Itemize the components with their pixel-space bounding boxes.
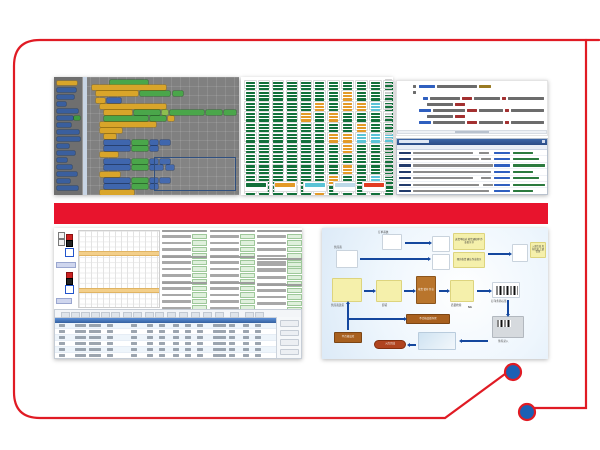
flow-arrow-pc-to-entry <box>405 242 429 244</box>
status-card[interactable] <box>272 164 285 173</box>
form-field-value[interactable] <box>287 301 302 306</box>
status-card[interactable] <box>300 80 313 89</box>
form-field-label <box>162 274 191 276</box>
grid-side-item <box>385 167 392 169</box>
grid-side-item <box>385 108 392 110</box>
flow-arrow-rejectarea-to-left <box>348 318 404 320</box>
form-row <box>210 266 255 271</box>
flow-arrow-reject-to-truck <box>347 304 349 330</box>
form-group-title <box>210 230 255 232</box>
side-button <box>280 349 299 356</box>
form-field-value[interactable] <box>287 247 302 252</box>
code-editor-area[interactable] <box>396 80 548 136</box>
grid-side-item <box>385 100 392 102</box>
status-card[interactable] <box>286 153 299 162</box>
status-card[interactable] <box>244 80 257 89</box>
status-card[interactable] <box>286 111 299 120</box>
status-card[interactable] <box>272 111 285 120</box>
flow-node-carton[interactable]: 收货 暂存 作业 <box>416 276 436 304</box>
form-field-label <box>210 235 239 237</box>
grid-side-item <box>385 150 392 152</box>
blocks-editor-screenshot[interactable] <box>54 77 239 195</box>
form-row <box>210 292 255 297</box>
form-row <box>257 275 302 280</box>
form-field-value[interactable] <box>192 286 207 291</box>
form-field-label <box>162 248 191 250</box>
status-card[interactable] <box>369 111 382 120</box>
red-divider-bar <box>54 203 548 224</box>
form-field-label <box>257 255 286 257</box>
form-column-b[interactable] <box>210 230 255 306</box>
grid-side-item <box>385 159 392 161</box>
spreadsheet-form-screenshot[interactable] <box>54 228 302 359</box>
flow-node-inspection[interactable] <box>450 280 474 302</box>
grid-side-item <box>385 175 392 177</box>
scan-barcode-icon <box>497 320 511 327</box>
status-card[interactable] <box>258 153 271 162</box>
grid-side-item <box>385 154 392 156</box>
flow-label-label-print: 打印条码标签 <box>491 299 507 303</box>
status-card[interactable] <box>313 90 326 99</box>
status-card[interactable] <box>286 122 299 131</box>
data-grid[interactable] <box>54 309 302 359</box>
status-card[interactable] <box>300 143 313 152</box>
status-card[interactable] <box>341 132 354 141</box>
status-card[interactable] <box>355 111 368 120</box>
grid-side-item <box>385 96 392 98</box>
table-row[interactable] <box>55 353 301 359</box>
form-field-label <box>257 235 286 237</box>
legend-swatch-unavailable <box>362 181 386 192</box>
accent-dot-lower <box>519 404 535 420</box>
form-field-label <box>162 268 191 270</box>
status-card[interactable] <box>258 143 271 152</box>
status-card[interactable] <box>369 101 382 110</box>
form-field-label <box>162 235 191 237</box>
status-card[interactable] <box>355 122 368 131</box>
form-field-value[interactable] <box>240 240 255 245</box>
grid-side-item <box>385 117 392 119</box>
status-card[interactable] <box>272 132 285 141</box>
form-group-title <box>162 282 207 284</box>
form-field-label <box>257 289 286 291</box>
side-button <box>280 339 299 346</box>
flow-label-forklift: 卸货 <box>382 303 387 307</box>
status-card[interactable] <box>355 164 368 173</box>
status-card[interactable] <box>355 153 368 162</box>
decorative-frame <box>0 0 600 450</box>
side-button <box>280 330 299 337</box>
flow-arrow-carton-inspect <box>439 290 447 292</box>
accent-dot-upper <box>505 364 521 380</box>
form-field-label <box>257 242 286 244</box>
grid-side-item <box>385 180 392 182</box>
form-field-label <box>257 296 286 298</box>
flow-label-inspection: 质量检验 <box>451 303 461 307</box>
status-card[interactable] <box>313 80 326 89</box>
frame-accent-connector <box>521 408 534 412</box>
flow-node-order-notes[interactable]: 送货单核对 收货通知单 作业指示书 <box>453 233 485 250</box>
form-field-value[interactable] <box>240 266 255 271</box>
form-row <box>257 288 302 293</box>
legend-swatch-available <box>244 181 268 192</box>
grid-side-item <box>385 125 392 127</box>
status-card[interactable] <box>327 80 340 89</box>
form-field-label <box>210 300 239 302</box>
form-row <box>210 299 255 304</box>
form-field-label <box>257 302 286 304</box>
status-card[interactable] <box>313 132 326 141</box>
flow-node-customer[interactable] <box>336 250 358 268</box>
status-card[interactable] <box>300 153 313 162</box>
flow-node-scan[interactable] <box>492 316 524 338</box>
flow-label-office-pc: 订单系统 <box>378 230 388 234</box>
status-card[interactable] <box>341 122 354 131</box>
blocks-palette[interactable] <box>54 77 83 195</box>
form-field-value[interactable] <box>287 275 302 280</box>
form-field-value[interactable] <box>192 260 207 265</box>
gantt-chart-area[interactable] <box>78 230 160 308</box>
status-card[interactable] <box>258 80 271 89</box>
status-card[interactable] <box>355 132 368 141</box>
status-card[interactable] <box>341 80 354 89</box>
form-field-value[interactable] <box>287 294 302 299</box>
grid-side-item <box>385 133 392 135</box>
schedule-left-toolbar[interactable] <box>54 228 76 308</box>
status-card[interactable] <box>327 132 340 141</box>
form-row <box>210 273 255 278</box>
form-row <box>162 247 207 252</box>
status-card[interactable] <box>369 132 382 141</box>
flow-arrow-forklift-carton <box>404 290 413 292</box>
status-card[interactable] <box>272 153 285 162</box>
status-card[interactable] <box>258 90 271 99</box>
status-card[interactable] <box>272 80 285 89</box>
grid-side-item <box>385 113 392 115</box>
status-card[interactable] <box>300 101 313 110</box>
status-card[interactable] <box>341 143 354 152</box>
slide-canvas: 订单系统 供应商 送货单核对 收货通知单 作业指示书 预先收货 确认作业指示 入… <box>0 0 600 450</box>
form-row <box>210 240 255 245</box>
status-card[interactable] <box>244 164 257 173</box>
form-field-value[interactable] <box>192 292 207 297</box>
status-card[interactable] <box>300 111 313 120</box>
status-card[interactable] <box>258 164 271 173</box>
grid-side-item <box>385 87 392 89</box>
flow-node-storage-book[interactable] <box>512 244 528 262</box>
log-window-titlebar <box>397 139 547 145</box>
form-group-title <box>257 230 302 232</box>
status-card[interactable] <box>244 153 257 162</box>
form-field-label <box>210 274 239 276</box>
grid-side-item <box>385 138 392 140</box>
form-field-value[interactable] <box>192 234 207 239</box>
form-field-value[interactable] <box>240 234 255 239</box>
form-field-value[interactable] <box>240 260 255 265</box>
flow-arrow-entry-to-storage <box>488 253 509 255</box>
status-card[interactable] <box>313 111 326 120</box>
flow-node-inbound-done[interactable]: 入库完成 <box>374 340 406 349</box>
status-card[interactable] <box>369 122 382 131</box>
form-column-a[interactable] <box>162 230 207 306</box>
grid-side-list <box>385 79 392 191</box>
status-card[interactable] <box>355 80 368 89</box>
form-field-value[interactable] <box>240 286 255 291</box>
status-card[interactable] <box>258 111 271 120</box>
status-card[interactable] <box>258 122 271 131</box>
gantt-bar <box>79 288 159 293</box>
data-grid-side-buttons[interactable] <box>276 317 301 358</box>
flow-node-storage-info[interactable]: 入库信息 库存信息 上架信息 <box>530 242 546 258</box>
status-card[interactable] <box>286 143 299 152</box>
grid-side-item <box>385 142 392 144</box>
status-card[interactable] <box>355 101 368 110</box>
log-window-title-text <box>399 140 429 142</box>
form-field-label <box>210 287 239 289</box>
status-card[interactable] <box>369 90 382 99</box>
flow-node-office-pc[interactable] <box>382 234 402 250</box>
code-horizontal-scrollbar[interactable] <box>397 130 547 134</box>
status-card[interactable] <box>327 111 340 120</box>
legend-swatch-reserved <box>274 181 298 192</box>
status-card[interactable] <box>286 164 299 173</box>
status-card[interactable] <box>272 101 285 110</box>
form-row <box>162 286 207 291</box>
status-card[interactable] <box>355 90 368 99</box>
flow-label-customer: 供应商 <box>334 245 342 249</box>
selection-rectangle <box>154 157 236 191</box>
form-field-label <box>162 294 191 296</box>
code-editor-and-log-screenshot[interactable] <box>396 80 548 195</box>
form-group-title <box>162 256 207 258</box>
form-field-value[interactable] <box>192 299 207 304</box>
status-card-container[interactable] <box>244 80 393 194</box>
form-field-label <box>162 287 191 289</box>
status-card[interactable] <box>272 122 285 131</box>
gantt-bar <box>79 251 159 256</box>
status-card[interactable] <box>300 132 313 141</box>
grid-side-item <box>385 104 392 106</box>
grid-side-item <box>385 184 392 186</box>
status-card[interactable] <box>258 101 271 110</box>
form-row <box>257 234 302 239</box>
form-field-value[interactable] <box>287 268 302 273</box>
status-card[interactable] <box>244 111 257 120</box>
form-field-value[interactable] <box>192 240 207 245</box>
form-field-value[interactable] <box>240 299 255 304</box>
gantt-grid-lines <box>79 231 159 307</box>
form-row <box>162 234 207 239</box>
status-card[interactable] <box>369 164 382 173</box>
form-group-title <box>210 282 255 284</box>
grid-side-item <box>385 171 392 173</box>
form-row <box>162 299 207 304</box>
legend-swatch-selected <box>303 181 327 192</box>
flow-arrow-inspect-label <box>477 290 489 292</box>
status-card[interactable] <box>327 101 340 110</box>
log-row-list[interactable] <box>397 150 547 195</box>
status-card[interactable] <box>327 90 340 99</box>
barcode-icon <box>496 286 518 295</box>
flow-node-putaway[interactable] <box>418 332 456 350</box>
status-card[interactable] <box>313 164 326 173</box>
status-card[interactable] <box>272 90 285 99</box>
status-card[interactable] <box>300 164 313 173</box>
side-button <box>280 320 299 327</box>
status-card[interactable] <box>258 132 271 141</box>
flow-arrow-putaway-to-done <box>410 344 416 346</box>
legend-swatch-pending <box>333 181 357 192</box>
flow-node-label-print[interactable] <box>492 282 520 298</box>
form-row <box>257 294 302 299</box>
status-card[interactable] <box>341 90 354 99</box>
form-field-label <box>210 268 239 270</box>
form-row <box>257 262 302 267</box>
form-field-label <box>210 248 239 250</box>
flow-arrow-truck-forklift <box>364 290 373 292</box>
form-field-value[interactable] <box>240 247 255 252</box>
status-card[interactable] <box>341 101 354 110</box>
form-group-title <box>257 284 302 286</box>
status-card[interactable] <box>286 101 299 110</box>
form-field-label <box>162 300 191 302</box>
status-card[interactable] <box>327 164 340 173</box>
status-card-grid-screenshot[interactable] <box>241 77 393 195</box>
form-field-value[interactable] <box>192 247 207 252</box>
status-card[interactable] <box>244 132 257 141</box>
form-field-value[interactable] <box>287 234 302 239</box>
form-group-title <box>162 230 207 232</box>
flow-node-forklift[interactable] <box>376 280 402 302</box>
status-card[interactable] <box>300 90 313 99</box>
status-card[interactable] <box>327 122 340 131</box>
status-card[interactable] <box>369 80 382 89</box>
flow-arrow-scan-to-putaway <box>462 340 488 342</box>
status-card[interactable] <box>286 80 299 89</box>
form-field-value[interactable] <box>240 292 255 297</box>
status-card[interactable] <box>313 122 326 131</box>
status-card[interactable] <box>341 164 354 173</box>
palette-scrollbar[interactable] <box>83 77 87 195</box>
status-card[interactable] <box>300 122 313 131</box>
status-card[interactable] <box>313 101 326 110</box>
flow-node-order-notes-2[interactable]: 预先收货 确认作业指示 <box>453 252 485 268</box>
form-field-label <box>210 294 239 296</box>
flow-arrow-label-to-scan <box>507 300 509 314</box>
status-legend <box>244 181 386 192</box>
flow-node-order-entry-2[interactable] <box>432 254 450 270</box>
form-field-label <box>257 248 286 250</box>
form-row <box>210 260 255 265</box>
form-row <box>257 247 302 252</box>
form-field-label <box>162 242 191 244</box>
form-field-value[interactable] <box>192 273 207 278</box>
status-card[interactable] <box>286 132 299 141</box>
warehouse-flow-diagram[interactable]: 订单系统 供应商 送货单核对 收货通知单 作业指示书 预先收货 确认作业指示 入… <box>322 228 548 359</box>
status-card[interactable] <box>244 122 257 131</box>
form-row <box>210 234 255 239</box>
grid-side-item <box>385 79 392 81</box>
form-row <box>257 301 302 306</box>
form-field-label <box>210 242 239 244</box>
output-log-window[interactable] <box>396 138 548 195</box>
status-card[interactable] <box>341 153 354 162</box>
status-card[interactable] <box>327 153 340 162</box>
form-field-label <box>162 261 191 263</box>
form-row <box>162 266 207 271</box>
status-card[interactable] <box>244 90 257 99</box>
status-card[interactable] <box>369 143 382 152</box>
form-field-label <box>257 263 286 265</box>
status-card[interactable] <box>244 143 257 152</box>
form-row <box>162 292 207 297</box>
flow-label-truck: 供应商送货 <box>331 303 344 307</box>
form-row <box>162 260 207 265</box>
form-row <box>257 268 302 273</box>
grid-side-item <box>385 129 392 131</box>
grid-side-item <box>385 83 392 85</box>
form-row <box>210 286 255 291</box>
status-card[interactable] <box>327 143 340 152</box>
form-field-label <box>210 261 239 263</box>
grid-side-item <box>385 146 392 148</box>
status-card[interactable] <box>355 143 368 152</box>
status-card[interactable] <box>244 101 257 110</box>
grid-side-item <box>385 92 392 94</box>
form-field-value[interactable] <box>287 288 302 293</box>
status-card[interactable] <box>341 111 354 120</box>
form-row <box>162 273 207 278</box>
schedule-upper-area[interactable] <box>54 228 302 308</box>
data-grid-rows[interactable] <box>55 323 301 359</box>
close-icon[interactable] <box>542 140 545 143</box>
form-row <box>162 240 207 245</box>
status-card[interactable] <box>272 143 285 152</box>
grid-side-item <box>385 121 392 123</box>
status-card[interactable] <box>369 153 382 162</box>
status-card[interactable] <box>313 153 326 162</box>
form-group-title <box>210 256 255 258</box>
form-field-value[interactable] <box>192 266 207 271</box>
form-field-label <box>257 270 286 272</box>
flow-node-reject-store[interactable]: 不合格品库 <box>334 332 362 343</box>
flow-node-truck[interactable] <box>332 278 362 302</box>
form-group-title <box>257 258 302 260</box>
form-row <box>210 247 255 252</box>
form-field-value[interactable] <box>240 273 255 278</box>
flow-node-reject-area[interactable]: 不合格品暂存区 <box>406 314 450 324</box>
data-grid-toolbar[interactable] <box>55 310 301 318</box>
form-field-label <box>257 276 286 278</box>
status-card[interactable] <box>313 143 326 152</box>
form-column-c[interactable] <box>257 230 302 306</box>
flow-label-ng: NG <box>468 306 472 309</box>
flow-arrow-customer-to-entry <box>360 258 428 260</box>
status-card[interactable] <box>286 90 299 99</box>
form-row <box>257 240 302 245</box>
form-field-value[interactable] <box>287 262 302 267</box>
flow-label-scan: 条码录入 <box>498 339 508 343</box>
grid-side-item <box>385 163 392 165</box>
form-field-value[interactable] <box>287 240 302 245</box>
flow-node-order-entry[interactable] <box>432 236 450 252</box>
